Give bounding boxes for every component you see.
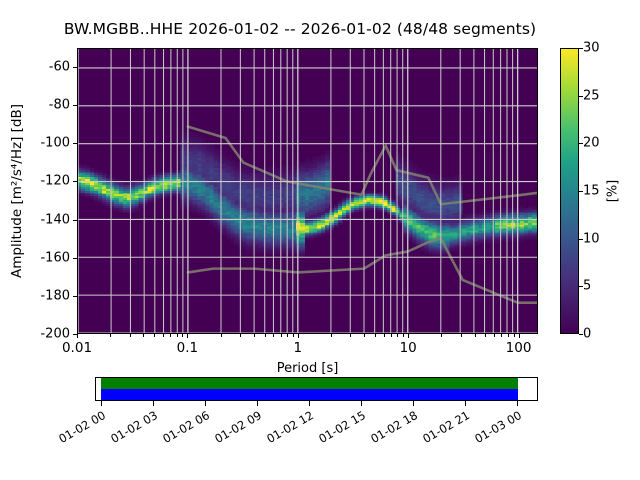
page-title: BW.MGBB..HHE 2026-01-02 -- 2026-01-02 (4… bbox=[0, 20, 600, 38]
colorbar-tick-label: 15 bbox=[583, 184, 600, 199]
timeline-tick-label: 01-02 15 bbox=[311, 408, 368, 449]
x-tick-mark bbox=[364, 334, 365, 337]
y-tick-mark bbox=[73, 143, 77, 144]
timeline-tick-label: 01-02 06 bbox=[155, 408, 212, 449]
y-tick-label: -160 bbox=[40, 250, 70, 265]
x-tick-label: 0.01 bbox=[62, 340, 92, 356]
timeline-tick-label: 01-03 00 bbox=[467, 408, 524, 449]
x-tick-mark bbox=[177, 334, 178, 337]
x-axis-label: Period [s] bbox=[77, 361, 538, 376]
colorbar[interactable] bbox=[560, 48, 579, 334]
x-tick-mark bbox=[110, 334, 111, 337]
x-tick-mark bbox=[130, 334, 131, 337]
x-tick-mark bbox=[240, 334, 241, 337]
x-tick-mark bbox=[514, 334, 515, 337]
timeline-tick-label: 01-02 18 bbox=[363, 408, 420, 449]
x-tick-mark bbox=[281, 334, 282, 337]
y-tick-label: -80 bbox=[49, 98, 70, 113]
x-tick-mark bbox=[441, 334, 442, 337]
timeline-tick-mark bbox=[517, 401, 518, 406]
x-tick-mark bbox=[170, 334, 171, 337]
x-tick-label: 1 bbox=[293, 340, 302, 356]
colorbar-tick-label: 5 bbox=[583, 279, 591, 294]
timeline-tick-label: 01-02 21 bbox=[415, 408, 472, 449]
x-tick-mark bbox=[273, 334, 274, 337]
ppsd-plot-area[interactable] bbox=[77, 48, 538, 334]
x-tick-mark bbox=[293, 334, 294, 337]
x-tick-label: 0.1 bbox=[177, 340, 198, 356]
timeline-tick-mark bbox=[205, 401, 206, 406]
x-tick-mark bbox=[77, 334, 78, 338]
x-tick-mark bbox=[143, 334, 144, 337]
data-coverage-green[interactable] bbox=[101, 378, 518, 389]
colorbar-tick-label: 20 bbox=[583, 136, 600, 151]
timeline-tick-label: 01-02 03 bbox=[103, 408, 160, 449]
x-tick-mark bbox=[265, 334, 266, 337]
x-tick-mark bbox=[475, 334, 476, 337]
timeline-tick-mark bbox=[309, 401, 310, 406]
x-tick-mark bbox=[519, 334, 520, 338]
x-tick-mark bbox=[221, 334, 222, 337]
colorbar-label: [%] bbox=[604, 48, 622, 334]
x-tick-mark bbox=[461, 334, 462, 337]
x-tick-mark bbox=[375, 334, 376, 337]
colorbar-tick-label: 0 bbox=[583, 327, 591, 342]
timeline-tick-label: 01-02 12 bbox=[259, 408, 316, 449]
colorbar-tick-label: 30 bbox=[583, 41, 600, 56]
timeline-tick-mark bbox=[413, 401, 414, 406]
x-tick-label: 10 bbox=[400, 340, 417, 356]
x-tick-label: 100 bbox=[506, 340, 532, 356]
x-tick-mark bbox=[508, 334, 509, 337]
y-tick-label: -100 bbox=[40, 136, 70, 151]
colorbar-tick-label: 10 bbox=[583, 231, 600, 246]
x-tick-mark bbox=[254, 334, 255, 337]
colorbar-tick-mark bbox=[579, 239, 583, 240]
x-tick-mark bbox=[397, 334, 398, 337]
x-tick-mark bbox=[485, 334, 486, 337]
colorbar-tick-mark bbox=[579, 96, 583, 97]
y-tick-mark bbox=[73, 105, 77, 106]
y-tick-mark bbox=[73, 296, 77, 297]
timeline-tick-mark bbox=[153, 401, 154, 406]
colorbar-tick-mark bbox=[579, 286, 583, 287]
x-tick-mark bbox=[298, 334, 299, 338]
y-tick-label: -120 bbox=[40, 174, 70, 189]
x-tick-mark bbox=[494, 334, 495, 337]
ppsd-figure: BW.MGBB..HHE 2026-01-02 -- 2026-01-02 (4… bbox=[0, 0, 640, 480]
y-tick-mark bbox=[73, 258, 77, 259]
colorbar-label-text: [%] bbox=[606, 180, 621, 203]
y-tick-label: -60 bbox=[49, 60, 70, 75]
timeline-tick-label: 01-02 00 bbox=[51, 408, 108, 449]
timeline-tick-mark bbox=[101, 401, 102, 406]
y-tick-label: -180 bbox=[40, 288, 70, 303]
y-axis-label-text: Amplitude [m²/s⁴/Hz] [dB] bbox=[9, 104, 25, 278]
x-tick-mark bbox=[501, 334, 502, 337]
y-tick-mark bbox=[73, 181, 77, 182]
x-tick-mark bbox=[187, 334, 188, 338]
x-tick-mark bbox=[154, 334, 155, 337]
grid-lines bbox=[78, 49, 537, 333]
x-tick-mark bbox=[391, 334, 392, 337]
x-tick-mark bbox=[331, 334, 332, 337]
timeline-tick-mark bbox=[465, 401, 466, 406]
y-axis-label: Amplitude [m²/s⁴/Hz] [dB] bbox=[8, 48, 26, 334]
x-tick-mark bbox=[384, 334, 385, 337]
y-tick-mark bbox=[73, 220, 77, 221]
y-tick-label: -140 bbox=[40, 212, 70, 227]
colorbar-tick-mark bbox=[579, 48, 583, 49]
y-tick-mark bbox=[73, 67, 77, 68]
data-coverage-blue[interactable] bbox=[101, 389, 518, 400]
x-tick-mark bbox=[287, 334, 288, 337]
colorbar-tick-mark bbox=[579, 334, 583, 335]
timeline-tick-mark bbox=[361, 401, 362, 406]
timeline-tick-mark bbox=[257, 401, 258, 406]
x-tick-mark bbox=[350, 334, 351, 337]
timeline-tick-label: 01-02 09 bbox=[207, 408, 264, 449]
colorbar-tick-mark bbox=[579, 191, 583, 192]
x-tick-mark bbox=[182, 334, 183, 337]
x-tick-mark bbox=[163, 334, 164, 337]
colorbar-tick-label: 25 bbox=[583, 88, 600, 103]
x-tick-mark bbox=[408, 334, 409, 338]
data-coverage-timeline[interactable] bbox=[95, 377, 538, 401]
colorbar-tick-mark bbox=[579, 143, 583, 144]
x-tick-mark bbox=[403, 334, 404, 337]
